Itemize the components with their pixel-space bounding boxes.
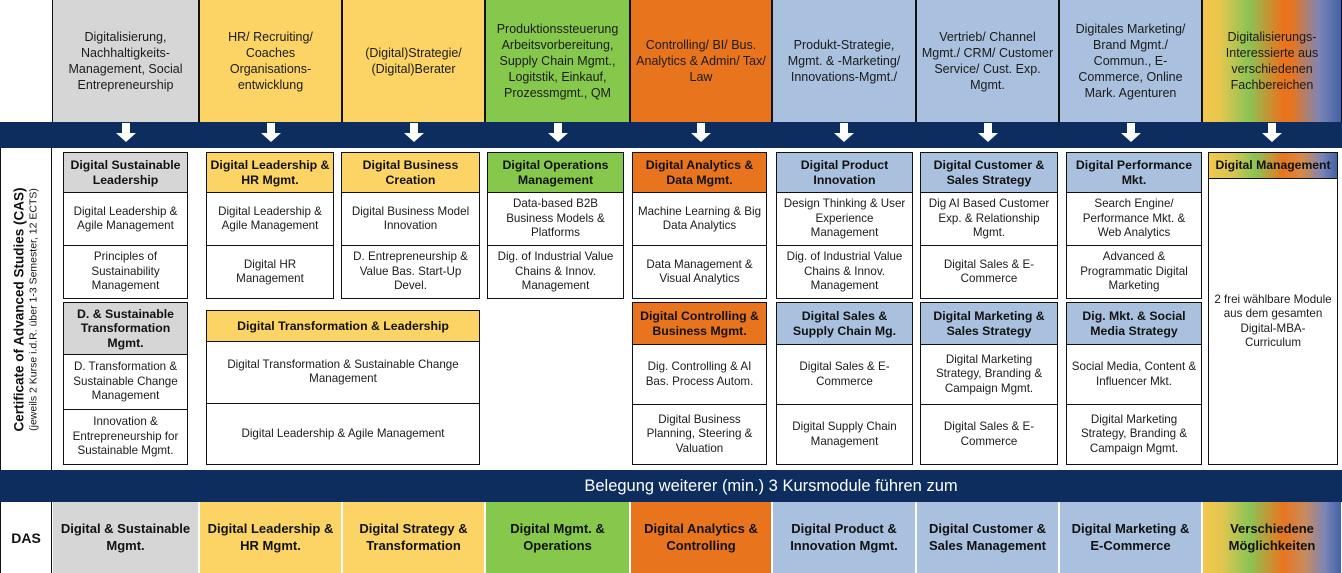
down-arrow-icon [260, 123, 282, 148]
progression-banner: Belegung weiterer (min.) 3 Kursmodule fü… [0, 470, 1342, 502]
down-arrow-icon [690, 123, 712, 148]
das-label: Digital & Sustainable Mgmt. [57, 521, 194, 554]
das-label: Digital Mgmt. & Operations [490, 521, 625, 554]
down-arrow-icon [1261, 123, 1283, 148]
target-group-label: Controlling/ BI/ Bus. Analytics & Admin/… [635, 37, 767, 85]
cas-module[interactable]: Digital Marketing Strategy, Branding & C… [921, 345, 1057, 404]
cas-card[interactable]: D. & Sustainable Transformation Mgmt. D.… [63, 302, 188, 465]
cas-module[interactable]: Digital Sales & E-Commerce [921, 404, 1057, 464]
cas-card-header: Digital Operations Management [488, 153, 623, 193]
cas-module[interactable]: Digital Supply Chain Management [777, 404, 912, 464]
cas-module[interactable]: Dig. of Industrial Value Chains & Innov.… [488, 245, 623, 298]
cas-card-header: Digital Sales & Supply Chain Mg. [777, 303, 912, 345]
cas-module[interactable]: Social Media, Content & Influencer Mkt. [1067, 345, 1201, 404]
cas-module[interactable]: Principles of Sustainability Management [64, 245, 187, 298]
cas-card-header: Digital Leadership & HR Mgmt. [207, 153, 333, 193]
cas-module[interactable]: Advanced & Programmatic Digital Marketin… [1067, 245, 1201, 298]
cas-card-header: Digital Customer & Sales Strategy [921, 153, 1057, 193]
cas-card-header: Digital Marketing & Sales Strategy [921, 303, 1057, 345]
das-label: Verschiedene Möglichkeiten [1207, 521, 1337, 554]
cas-card[interactable]: Digital Sales & Supply Chain Mg. Digital… [776, 302, 913, 465]
arrow-cell [342, 122, 485, 148]
cas-card[interactable]: Digital Business Creation Digital Busine… [341, 152, 480, 299]
cas-card-header: Digital Analytics & Data Mgmt. [633, 153, 766, 193]
das-section-label: DAS [0, 502, 52, 573]
cas-card[interactable]: Digital Customer & Sales Strategy Dig AI… [920, 152, 1058, 299]
target-group-cell: Produktionssteuerung Arbeitsvorbereitung… [485, 0, 630, 122]
down-arrow-icon [547, 123, 569, 148]
cas-module[interactable]: Search Engine/ Performance Mkt. & Web An… [1067, 193, 1201, 245]
cas-module[interactable]: Digital HR Management [207, 245, 333, 298]
cas-card[interactable]: Digital Performance Mkt. Search Engine/ … [1066, 152, 1202, 299]
down-arrow-icon [977, 123, 999, 148]
das-cell[interactable]: Digital Strategy & Transformation [342, 502, 485, 573]
cas-title: Certificate of Advanced Studies (CAS) [12, 187, 28, 431]
das-cell[interactable]: Digital Product & Innovation Mgmt. [772, 502, 916, 573]
arrow-cell [52, 122, 199, 148]
progression-banner-text: Belegung weiterer (min.) 3 Kursmodule fü… [200, 470, 1342, 502]
cas-card[interactable]: Digital Sustainable Leadership Digital L… [63, 152, 188, 299]
curriculum-overview: Digitalisierung, Nachhaltigkeits-Managem… [0, 0, 1342, 573]
target-group-cell: Digitalisierung, Nachhaltigkeits-Managem… [52, 0, 199, 122]
target-group-cell: Controlling/ BI/ Bus. Analytics & Admin/… [630, 0, 772, 122]
arrow-cell [199, 122, 342, 148]
cas-module[interactable]: Data Management & Visual Analytics [633, 245, 766, 298]
target-group-label: (Digital)Strategie/ (Digital)Berater [347, 45, 480, 77]
down-arrow-icon [1120, 123, 1142, 148]
cas-module[interactable]: Dig. of Industrial Value Chains & Innov.… [777, 245, 912, 298]
cas-module[interactable]: Dig. Controlling & AI Bas. Process Autom… [633, 345, 766, 404]
arrow-cell [630, 122, 772, 148]
cas-module[interactable]: Digital Sales & E-Commerce [921, 245, 1057, 298]
cas-card[interactable]: Digital Marketing & Sales Strategy Digit… [920, 302, 1058, 465]
das-cell[interactable]: Digital Mgmt. & Operations [485, 502, 630, 573]
down-arrow-icon [115, 123, 137, 148]
das-cell[interactable]: Verschiedene Möglichkeiten [1202, 502, 1342, 573]
arrow-cell [1059, 122, 1202, 148]
cas-card-open[interactable]: Digital Management 2 frei wählbare Modul… [1208, 152, 1338, 465]
cas-module[interactable]: Digital Leadership & Agile Management [207, 193, 333, 245]
das-label: Digital Leadership & HR Mgmt. [204, 521, 337, 554]
cas-module[interactable]: Digital Leadership & Agile Management [64, 193, 187, 245]
cas-card[interactable]: Digital Transformation & Leadership Digi… [206, 310, 480, 465]
das-label: Digital Customer & Sales Management [921, 521, 1054, 554]
cas-card-header: Digital Controlling & Business Mgmt. [633, 303, 766, 345]
das-cell[interactable]: Digital Marketing & E-Commerce [1059, 502, 1202, 573]
down-arrow-icon [403, 123, 425, 148]
target-group-label: Vertrieb/ Channel Mgmt./ CRM/ Customer S… [921, 29, 1054, 93]
das-label: Digital Strategy & Transformation [347, 521, 480, 554]
cas-module[interactable]: D. Entrepreneurship & Value Bas. Start-U… [342, 245, 479, 298]
target-group-cell: Vertrieb/ Channel Mgmt./ CRM/ Customer S… [916, 0, 1059, 122]
target-group-cell: Digitales Marketing/ Brand Mgmt./ Commun… [1059, 0, 1202, 122]
target-group-label: Digitalisierung, Nachhaltigkeits-Managem… [57, 29, 194, 93]
target-group-label: Produkt-Strategie, Mgmt. & -Marketing/ I… [777, 37, 911, 85]
das-cell[interactable]: Digital Customer & Sales Management [916, 502, 1059, 573]
cas-card-header: Digital Sustainable Leadership [64, 153, 187, 193]
target-group-label: Produktionssteuerung Arbeitsvorbereitung… [490, 21, 625, 101]
target-group-row: Digitalisierung, Nachhaltigkeits-Managem… [0, 0, 1342, 122]
down-arrow-icon [833, 123, 855, 148]
cas-module[interactable]: Digital Sales & E-Commerce [777, 345, 912, 404]
cas-card[interactable]: Digital Leadership & HR Mgmt. Digital Le… [206, 152, 334, 299]
cas-section-label: Certificate of Advanced Studies (CAS) (j… [0, 148, 52, 470]
target-group-cell: Produkt-Strategie, Mgmt. & -Marketing/ I… [772, 0, 916, 122]
cas-module[interactable]: Digital Business Model Innovation [342, 193, 479, 245]
cas-module[interactable]: Digital Transformation & Sustainable Cha… [207, 342, 479, 403]
cas-card-header: Digital Management [1209, 153, 1337, 179]
target-group-cell: Digitalisierungs-Interessierte aus versc… [1202, 0, 1342, 122]
das-label: Digital Product & Innovation Mgmt. [777, 521, 911, 554]
cas-card-header: Digital Transformation & Leadership [207, 311, 479, 342]
cas-open-module-text[interactable]: 2 frei wählbare Module aus dem gesamten … [1209, 179, 1337, 464]
cas-module[interactable]: Data-based B2B Business Models & Platfor… [488, 193, 623, 245]
cas-module[interactable]: Machine Learning & Big Data Analytics [633, 193, 766, 245]
cas-card[interactable]: Digital Product Innovation Design Thinki… [776, 152, 913, 299]
target-group-cell: (Digital)Strategie/ (Digital)Berater [342, 0, 485, 122]
cas-module[interactable]: Innovation & Entrepreneurship for Sustai… [64, 409, 187, 464]
arrow-cell [1202, 122, 1342, 148]
das-cell[interactable]: Digital & Sustainable Mgmt. [52, 502, 199, 573]
das-label: Digital Analytics & Controlling [635, 521, 767, 554]
target-group-label: HR/ Recruiting/ Coaches Organisations-en… [204, 29, 337, 93]
das-cell[interactable]: Digital Analytics & Controlling [630, 502, 772, 573]
arrow-cell [772, 122, 916, 148]
cas-card-header: Digital Product Innovation [777, 153, 912, 193]
cas-module[interactable]: Digital Business Planning, Steering & Va… [633, 404, 766, 464]
cas-card-header: Digital Performance Mkt. [1067, 153, 1201, 193]
cas-subtitle: (jeweils 2 Kurse i.d.R. über 1-3 Semeste… [28, 187, 41, 431]
cas-module[interactable]: Digital Marketing Strategy, Branding & C… [1067, 404, 1201, 464]
target-group-label: Digitalisierungs-Interessierte aus versc… [1207, 29, 1337, 93]
cas-module[interactable]: Design Thinking & User Experience Manage… [777, 193, 912, 245]
cas-card-header: Dig. Mkt. & Social Media Strategy [1067, 303, 1201, 345]
das-label: Digital Marketing & E-Commerce [1064, 521, 1197, 554]
cas-module[interactable]: D. Transformation & Sustainable Change M… [64, 355, 187, 409]
cas-card-header: D. & Sustainable Transformation Mgmt. [64, 303, 187, 355]
target-group-cell: HR/ Recruiting/ Coaches Organisations-en… [199, 0, 342, 122]
cas-module[interactable]: Dig AI Based Customer Exp. & Relationshi… [921, 193, 1057, 245]
das-cell[interactable]: Digital Leadership & HR Mgmt. [199, 502, 342, 573]
cas-card[interactable]: Digital Controlling & Business Mgmt. Dig… [632, 302, 767, 465]
cas-card[interactable]: Digital Operations Management Data-based… [487, 152, 624, 299]
cas-card[interactable]: Dig. Mkt. & Social Media Strategy Social… [1066, 302, 1202, 465]
cas-card[interactable]: Digital Analytics & Data Mgmt. Machine L… [632, 152, 767, 299]
arrow-cell [485, 122, 630, 148]
cas-card-header: Digital Business Creation [342, 153, 479, 193]
cas-module[interactable]: Digital Leadership & Agile Management [207, 403, 479, 465]
arrow-cell [916, 122, 1059, 148]
target-group-label: Digitales Marketing/ Brand Mgmt./ Commun… [1064, 21, 1197, 101]
